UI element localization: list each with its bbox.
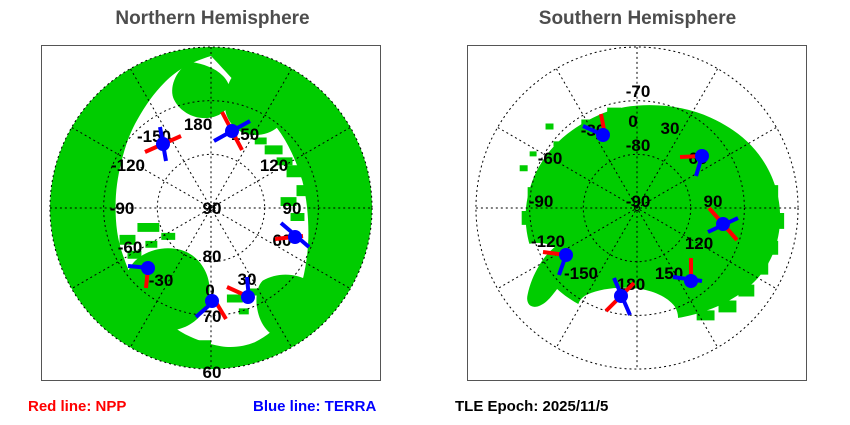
satellite-cross-icon <box>573 105 633 165</box>
north-lon-label-120: 120 <box>260 156 288 176</box>
northern-hemisphere-panel: Northern Hemisphere <box>0 0 425 425</box>
south-lat-label-m70: -70 <box>626 82 651 102</box>
north-lat-label-90: 90 <box>203 199 222 219</box>
southern-hemisphere-panel: Southern Hemisphere <box>425 0 850 425</box>
northern-hemisphere-title: Northern Hemisphere <box>0 8 425 30</box>
northern-hemisphere-plot: 180 -150 150 -120 120 -90 90 -60 60 -30 … <box>41 45 381 381</box>
north-lon-label-m90: -90 <box>110 199 135 219</box>
southern-hemisphere-title: Southern Hemisphere <box>425 8 850 30</box>
legend-tle-epoch: TLE Epoch: 2025/11/5 <box>455 398 608 415</box>
south-lon-label-m60: -60 <box>538 149 563 169</box>
satellite-cross-icon <box>661 251 721 311</box>
satellite-tracks-figure: Northern Hemisphere <box>0 0 850 425</box>
satellite-cross-icon <box>591 266 651 326</box>
satellite-cross-icon <box>265 207 325 267</box>
north-lat-label-80: 80 <box>203 247 222 267</box>
legend-npp: Red line: NPP <box>28 398 126 415</box>
south-lon-label-m90: -90 <box>529 192 554 212</box>
north-lat-label-60: 60 <box>203 363 222 381</box>
southern-hemisphere-plot: -60 -70 0 30 -80 -30 60 -60 -90 -90 90 1… <box>467 45 807 381</box>
south-lat-label-m90: -90 <box>626 192 651 212</box>
satellite-cross-icon <box>118 238 178 298</box>
satellite-cross-icon <box>133 114 193 174</box>
satellite-cross-icon <box>693 194 753 254</box>
satellite-cross-icon <box>536 225 596 285</box>
satellite-cross-icon <box>202 101 262 161</box>
legend-terra: Blue line: TERRA <box>253 398 376 415</box>
satellite-cross-icon <box>672 126 732 186</box>
south-lat-label-m60-top: -60 <box>626 45 651 46</box>
satellite-cross-icon <box>182 271 242 331</box>
